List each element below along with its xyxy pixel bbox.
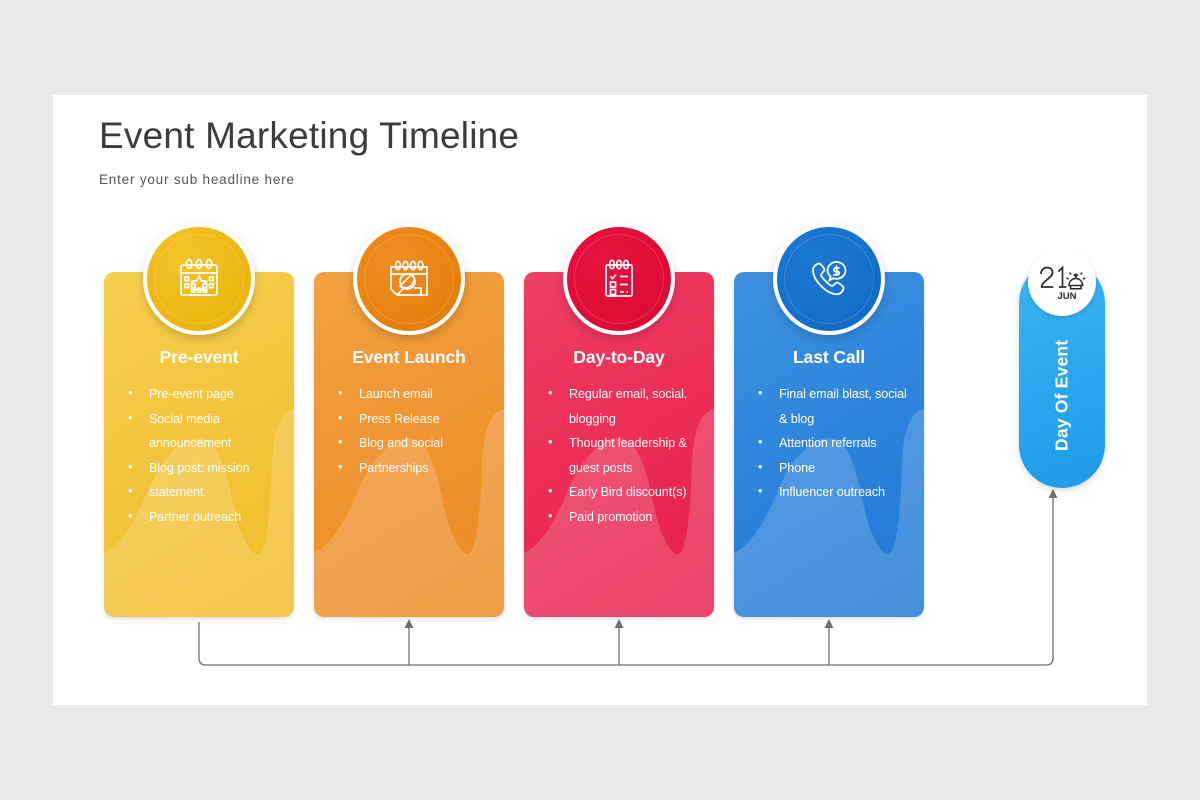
card-bullet-item: & blog: [756, 407, 914, 432]
card-bullet-item: Influencer outreach: [756, 480, 914, 505]
date-badge: JUN: [1028, 248, 1096, 316]
card-bullet-list: Pre-event pageSocial mediaannouncementBl…: [126, 382, 284, 530]
slide-canvas: Event Marketing Timeline Enter your sub …: [53, 95, 1147, 705]
phone-money-icon-badge[interactable]: [773, 223, 885, 335]
day-of-event-label: Day Of Event: [1019, 320, 1105, 470]
calendar-star-icon: [171, 251, 227, 307]
card-bullet-item: Paid promotion: [546, 505, 704, 530]
card-bullet-item: Pre-event page: [126, 382, 284, 407]
card-bullet-item: Blog and social: [336, 431, 494, 456]
card-bullet-item: Partner outreach: [126, 505, 284, 530]
card-bullet-item: Blog post: mission: [126, 456, 284, 481]
card-title: Event Launch: [314, 347, 504, 368]
checklist-icon: [591, 251, 647, 307]
card-bullet-item: Partnerships: [336, 456, 494, 481]
card-bullet-item: statement: [126, 480, 284, 505]
card-title: Pre-event: [104, 347, 294, 368]
calendar-rocket-icon: [381, 251, 437, 307]
day-of-event-pill[interactable]: JUN Day Of Event: [1019, 260, 1105, 488]
page-title: Event Marketing Timeline: [99, 115, 519, 157]
card-bullet-list: Final email blast, social& blogAttention…: [756, 382, 914, 505]
calendar-star-icon-badge[interactable]: [143, 223, 255, 335]
date-21-jun-icon: JUN: [1037, 261, 1087, 303]
card-bullet-list: Regular email, social,bloggingThought le…: [546, 382, 704, 530]
phone-money-icon: [800, 250, 858, 308]
card-bullet-item: Final email blast, social: [756, 382, 914, 407]
card-bullet-item: Launch email: [336, 382, 494, 407]
card-bullet-item: Regular email, social,: [546, 382, 704, 407]
card-bullet-list: Launch emailPress ReleaseBlog and social…: [336, 382, 494, 480]
card-title: Last Call: [734, 347, 924, 368]
checklist-icon-badge[interactable]: [563, 223, 675, 335]
card-bullet-item: Press Release: [336, 407, 494, 432]
card-bullet-item: Phone: [756, 456, 914, 481]
card-bullet-item: Social media: [126, 407, 284, 432]
card-bullet-item: Early Bird discount(s): [546, 480, 704, 505]
card-bullet-item: Thought leadership &: [546, 431, 704, 456]
card-bullet-item: guest posts: [546, 456, 704, 481]
calendar-rocket-icon-badge[interactable]: [353, 223, 465, 335]
badge-month-label: JUN: [1057, 291, 1076, 302]
page-subtitle: Enter your sub headline here: [99, 172, 295, 187]
card-bullet-item: Attention referrals: [756, 431, 914, 456]
card-bullet-item: blogging: [546, 407, 704, 432]
card-title: Day-to-Day: [524, 347, 714, 368]
card-bullet-item: announcement: [126, 431, 284, 456]
